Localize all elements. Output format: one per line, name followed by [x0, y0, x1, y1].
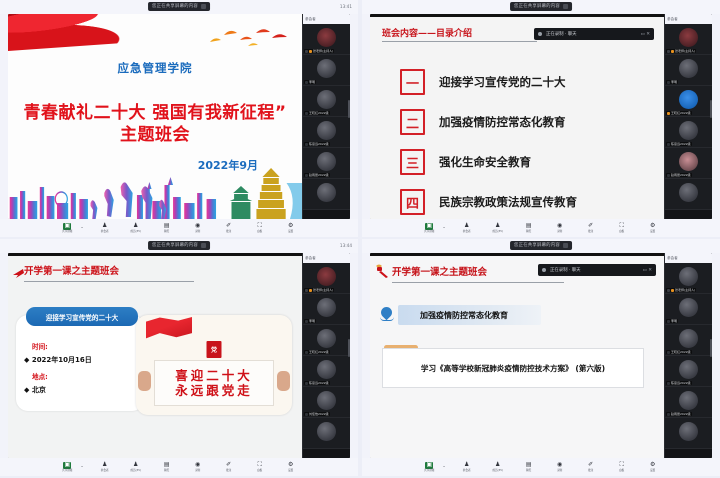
toolbar-members[interactable]: ♟ 成员(35): [488, 462, 508, 473]
share-indicator-label: 您正在共享屏幕的内容: [514, 241, 560, 250]
participant-tile[interactable]: 李明: [303, 294, 350, 325]
toolbar-label: 白板: [619, 469, 624, 473]
gear-icon: ⚙: [649, 462, 657, 469]
avatar: [679, 329, 698, 348]
shared-slide-1[interactable]: 应急管理学院 青春献礼二十大 强国有我新征程” 主题班会 2022年9月: [8, 14, 302, 219]
chevron-up-icon[interactable]: ⌃: [80, 465, 83, 470]
toolbar-participants[interactable]: ♟ 参会者: [95, 462, 115, 473]
participant-name: 陈思远2022级: [309, 142, 329, 146]
chevron-up-icon[interactable]: ⌃: [442, 465, 445, 470]
toolbar-record[interactable]: ◉ 录制: [550, 223, 570, 234]
toolbar-whiteboard[interactable]: ⛶ 白板: [612, 462, 632, 473]
participant-name-bar: 刘佳怡2022级: [304, 412, 330, 416]
chat-icon: ▤: [163, 462, 171, 469]
toolbar-label: 白板: [619, 230, 624, 234]
participant-name: 张老师(主持人): [675, 288, 695, 292]
mic-icon: [667, 320, 670, 323]
participant-name-bar: 李明: [666, 319, 678, 323]
chevron-up-icon[interactable]: ⌃: [80, 226, 83, 231]
share-indicator-label: 您正在共享屏幕的内容: [152, 241, 198, 250]
pin-tail-decor: [380, 317, 394, 321]
members-icon: ♟: [132, 223, 140, 230]
whiteboard-icon: ⛶: [618, 462, 626, 469]
mic-icon: [667, 143, 670, 146]
mic-icon: [305, 351, 308, 354]
participant-tile[interactable]: 李明: [665, 294, 712, 325]
avatar: [317, 267, 336, 286]
participant-name: 李明: [671, 319, 677, 323]
hand-right-decor: [277, 371, 290, 391]
meeting-panel-4: 您正在共享屏幕的内容 开学第一课之主题班会 加强疫情防控常态化教育: [362, 239, 720, 476]
shared-slide-2[interactable]: 班会内容——目录介绍 一 迎接学习宣传党的二十大 二 加强疫情防控常态化教育 三: [370, 14, 664, 219]
participant-tile[interactable]: 刘佳怡2022级: [303, 387, 350, 418]
mic-icon: [667, 81, 670, 84]
meeting-toolbar-4[interactable]: ▣ 共享屏幕 ⌃ ♟ 参会者 ♟ 成员(35) ▤ 聊天 ◉ 录制 ✐: [362, 458, 720, 476]
toolbar-participants[interactable]: ♟ 参会者: [95, 223, 115, 234]
toolbar-label: 批注: [588, 469, 593, 473]
window-controls-icon[interactable]: ▭ ✕: [641, 32, 650, 37]
toolbar-label: 共享屏幕: [424, 230, 434, 234]
annotate-icon: ✐: [225, 462, 233, 469]
participant-name-bar: 陈思远2022级: [666, 381, 692, 385]
mic-icon: [305, 382, 308, 385]
recording-status-label: 正在录制 · 聊天: [546, 31, 577, 37]
toolbar-label: 聊天: [526, 230, 531, 234]
avatar: [679, 267, 698, 286]
participant-name: 赵雨辰2022级: [309, 173, 329, 177]
camera-icon: [667, 50, 670, 53]
agenda-item: 一 迎接学习宣传党的二十大: [400, 62, 652, 102]
mic-icon: [309, 289, 312, 292]
poster-line-1: 喜迎二十大: [175, 369, 253, 382]
slide3-pill: 迎接学习宣传党的二十大: [26, 307, 138, 326]
avatar: [317, 28, 336, 47]
toolbar-share-screen[interactable]: ▣ 共享屏幕: [57, 223, 77, 234]
roster-header-label: 参会者: [305, 256, 316, 261]
slide3-info-card: 迎接学习宣传党的二十大 时间: ◆ 2022年10月16日 地点: ◆ 北京: [16, 315, 144, 411]
avatar: [317, 152, 336, 171]
toolbar-label: 白板: [257, 469, 262, 473]
shared-slide-4[interactable]: 开学第一课之主题班会 加强疫情防控常态化教育 学习《高等学校新冠肺炎疫情防控技术…: [370, 253, 664, 458]
toolbar-label: 批注: [226, 469, 231, 473]
roster-scrollbar[interactable]: [710, 100, 712, 118]
participant-roster-1[interactable]: 参会者 张老师(主持人) 李明: [302, 14, 350, 219]
participant-tile[interactable]: 王晓红2022级: [303, 325, 350, 356]
members-icon: ♟: [494, 462, 502, 469]
toolbar-label: 参会者: [101, 230, 109, 234]
gear-icon: ⚙: [287, 462, 295, 469]
toolbar-label: 批注: [226, 230, 231, 234]
record-icon: ◉: [194, 462, 202, 469]
share-screen-icon: ▣: [425, 462, 433, 469]
toolbar-label: 共享屏幕: [62, 469, 72, 473]
toolbar-label: 录制: [557, 469, 562, 473]
slide-cover: 应急管理学院 青春献礼二十大 强国有我新征程” 主题班会 2022年9月: [8, 14, 302, 219]
whiteboard-icon: ⛶: [256, 223, 264, 230]
participant-tile[interactable]: 王晓红2022级: [303, 86, 350, 117]
meeting-toolbar-2[interactable]: ▣ 共享屏幕 ⌃ ♟ 参会者 ♟ 成员(35) ▤ 聊天 ◉ 录制 ✐: [362, 219, 720, 237]
slide4-body-text: 学习《高等学校新冠肺炎疫情防控技术方案》 (第六版): [382, 348, 644, 388]
participant-tile[interactable]: [665, 179, 712, 210]
mic-icon: [667, 351, 670, 354]
avatar: [679, 422, 698, 441]
avatar: [317, 121, 336, 140]
participant-name: 王晓红2022级: [309, 350, 329, 354]
participant-tile[interactable]: [303, 179, 350, 210]
participant-name: 李明: [671, 80, 677, 84]
chat-icon: ▤: [525, 223, 533, 230]
participant-tile[interactable]: 赵雨辰2022级: [303, 148, 350, 179]
toolbar-label: 聊天: [526, 469, 531, 473]
toolbar-share-screen[interactable]: ▣ 共享屏幕: [57, 462, 77, 473]
avatar: [317, 298, 336, 317]
participant-tile[interactable]: 陈思远2022级: [303, 117, 350, 148]
stop-share-icon[interactable]: [563, 4, 568, 9]
whiteboard-icon: ⛶: [618, 223, 626, 230]
share-indicator-2[interactable]: 您正在共享屏幕的内容: [510, 2, 572, 11]
share-screen-icon: ▣: [63, 462, 71, 469]
annotate-icon: ✐: [225, 223, 233, 230]
participant-tile[interactable]: 王晓红2022级: [665, 86, 712, 117]
panel-grid: 您正在共享屏幕的内容 13:41 应急管理学院: [0, 0, 720, 478]
red-arrow-icon: [13, 269, 24, 278]
camera-icon: [305, 289, 308, 292]
mic-icon: [305, 174, 308, 177]
participant-tile[interactable]: 张老师(主持人): [665, 263, 712, 294]
chat-icon: ▤: [525, 462, 533, 469]
participant-tile[interactable]: 赵雨辰2022级: [665, 148, 712, 179]
mic-icon: [667, 174, 670, 177]
toolbar-label: 成员(35): [130, 469, 141, 473]
toolbar-annotate[interactable]: ✐ 批注: [581, 462, 601, 473]
mic-icon: [671, 289, 674, 292]
mic-icon: [671, 50, 674, 53]
mic-icon: [309, 50, 312, 53]
participant-name-bar: 张老师(主持人): [666, 49, 696, 53]
slide3-time-value: ◆ 2022年10月16日: [24, 355, 92, 365]
toolbar-members[interactable]: ♟ 成员(35): [126, 223, 146, 234]
toolbar-share-screen[interactable]: ▣ 共享屏幕: [419, 223, 439, 234]
record-icon: ◉: [194, 223, 202, 230]
participant-name: 李明: [309, 319, 315, 323]
toolbar-settings[interactable]: ⚙ 设置: [643, 462, 663, 473]
slide4-subtitle: 加强疫情防控常态化教育: [398, 305, 541, 325]
camera-icon: [667, 289, 670, 292]
share-indicator-4[interactable]: 您正在共享屏幕的内容: [510, 241, 572, 250]
participant-name-bar: 王晓红2022级: [304, 111, 330, 115]
slide2-heading: 班会内容——目录介绍: [382, 26, 472, 39]
roster-header-1: 参会者: [303, 14, 350, 24]
meeting-panel-3: 您正在共享屏幕的内容 13:44 开学第一课之主题班会 迎接学习宣传党的二十大 …: [0, 239, 358, 476]
toolbar-label: 批注: [588, 230, 593, 234]
toolbar-members[interactable]: ♟ 成员(35): [488, 223, 508, 234]
participant-tile[interactable]: 陈思远2022级: [665, 117, 712, 148]
toolbar-annotate[interactable]: ✐ 批注: [219, 223, 239, 234]
participant-tile[interactable]: [665, 418, 712, 449]
participant-name: 王晓红2022级: [309, 111, 329, 115]
toolbar-label: 聊天: [164, 230, 169, 234]
toolbar-label: 白板: [257, 230, 262, 234]
participant-tile[interactable]: 王晓红2022级: [665, 325, 712, 356]
share-indicator-label: 您正在共享屏幕的内容: [514, 2, 560, 11]
slide2-rule: [382, 41, 537, 42]
slide-epidemic: 开学第一课之主题班会 加强疫情防控常态化教育 学习《高等学校新冠肺炎疫情防控技术…: [370, 253, 664, 458]
members-icon: ♟: [132, 462, 140, 469]
window-controls-icon[interactable]: ▭ ✕: [643, 268, 652, 273]
participant-tile[interactable]: 陈思远2022级: [665, 356, 712, 387]
toolbar-record[interactable]: ◉ 录制: [188, 462, 208, 473]
avatar: [317, 329, 336, 348]
skyline-decor: [8, 163, 302, 219]
toolbar-label: 成员(35): [492, 469, 503, 473]
participant-name-bar: 赵雨辰2022级: [666, 173, 692, 177]
participant-tile[interactable]: 李明: [303, 55, 350, 86]
participant-name-bar: 李明: [304, 80, 316, 84]
shared-slide-3[interactable]: 开学第一课之主题班会 迎接学习宣传党的二十大 时间: ◆ 2022年10月16日…: [8, 253, 302, 458]
agenda-number: 四: [400, 189, 425, 215]
participant-name: 刘佳怡2022级: [309, 412, 329, 416]
whiteboard-icon: ⛶: [256, 462, 264, 469]
toolbar-participants[interactable]: ♟ 参会者: [457, 223, 477, 234]
participant-name-bar: 王晓红2022级: [666, 111, 692, 115]
birds-decor-icon: [202, 26, 292, 52]
toolbar-settings[interactable]: ⚙ 设置: [281, 223, 301, 234]
mic-icon: [667, 112, 670, 115]
toolbar-label: 录制: [195, 230, 200, 234]
roster-header-3: 参会者: [303, 253, 350, 263]
toolbar-label: 共享屏幕: [424, 469, 434, 473]
roster-scrollbar[interactable]: [348, 339, 350, 357]
mic-icon: [305, 413, 308, 416]
participant-name-bar: 王晓红2022级: [666, 350, 692, 354]
clock-1: 13:41: [340, 2, 352, 11]
slide-topbar: [370, 253, 664, 256]
slide-topbar: [8, 253, 302, 256]
participants-icon: ♟: [463, 223, 471, 230]
avatar: [317, 90, 336, 109]
participant-name-bar: 张老师(主持人): [304, 49, 334, 53]
slide1-school: 应急管理学院: [8, 60, 302, 76]
avatar: [679, 28, 698, 47]
participant-name: 赵雨辰2022级: [671, 173, 691, 177]
hand-left-decor: [138, 371, 151, 391]
mic-icon: [305, 112, 308, 115]
slide4-rule: [392, 282, 564, 283]
toolbar-label: 成员(35): [492, 230, 503, 234]
participant-tile[interactable]: 陈思远2022级: [303, 356, 350, 387]
toolbar-label: 录制: [557, 230, 562, 234]
record-icon: ◉: [556, 462, 564, 469]
participant-name: 陈思远2022级: [671, 142, 691, 146]
poster-line-2: 永远跟党走: [175, 384, 253, 397]
participant-name: 王晓红2022级: [671, 350, 691, 354]
agenda-item: 三 强化生命安全教育: [400, 142, 652, 182]
share-indicator-1[interactable]: 您正在共享屏幕的内容: [148, 2, 210, 11]
stage-4: 开学第一课之主题班会 加强疫情防控常态化教育 学习《高等学校新冠肺炎疫情防控技术…: [370, 253, 712, 458]
avatar: [317, 422, 336, 441]
camera-icon: [305, 50, 308, 53]
share-screen-icon: ▣: [63, 223, 71, 230]
toolbar-chat[interactable]: ▤ 聊天: [157, 462, 177, 473]
stop-share-icon[interactable]: [201, 243, 206, 248]
avatar: [679, 90, 698, 109]
meeting-panel-1: 您正在共享屏幕的内容 13:41 应急管理学院: [0, 0, 358, 237]
slide4-heading: 开学第一课之主题班会: [392, 264, 487, 278]
participant-tile[interactable]: 李明: [665, 55, 712, 86]
participant-name-bar: 陈思远2022级: [666, 142, 692, 146]
share-indicator-3[interactable]: 您正在共享屏幕的内容: [148, 241, 210, 250]
toolbar-label: 聊天: [164, 469, 169, 473]
participants-icon: ♟: [463, 462, 471, 469]
agenda-item: 四 民族宗教政策法规宣传教育: [400, 182, 652, 219]
share-indicator-label: 您正在共享屏幕的内容: [152, 2, 198, 11]
avatar: [317, 59, 336, 78]
annotate-icon: ✐: [587, 462, 595, 469]
avatar: [679, 298, 698, 317]
participant-name: 陈思远2022级: [671, 381, 691, 385]
participants-icon: ♟: [101, 223, 109, 230]
meeting-toolbar-3[interactable]: ▣ 共享屏幕 ⌃ ♟ 参会者 ♟ 成员(35) ▤ 聊天 ◉ 录制 ✐: [0, 458, 358, 476]
agenda-text: 迎接学习宣传党的二十大: [439, 74, 566, 90]
annotate-icon: ✐: [587, 223, 595, 230]
toolbar-whiteboard[interactable]: ⛶ 白板: [612, 223, 632, 234]
agenda-text: 民族宗教政策法规宣传教育: [439, 194, 577, 210]
toolbar-annotate[interactable]: ✐ 批注: [219, 462, 239, 473]
slide3-heading: 开学第一课之主题班会: [24, 263, 119, 277]
participant-roster-2[interactable]: 参会者 张老师(主持人) 李明: [664, 14, 712, 219]
mic-icon: [305, 320, 308, 323]
participant-name-bar: 李明: [304, 319, 316, 323]
recording-status-label: 正在录制 · 聊天: [550, 267, 581, 273]
avatar: [317, 360, 336, 379]
participant-name-bar: 赵雨辰2022级: [304, 173, 330, 177]
stage-1: 应急管理学院 青春献礼二十大 强国有我新征程” 主题班会 2022年9月: [8, 14, 350, 219]
toolbar-settings[interactable]: ⚙ 设置: [281, 462, 301, 473]
participant-name-bar: 李明: [666, 80, 678, 84]
avatar: [679, 59, 698, 78]
avatar: [317, 391, 336, 410]
slide3-poster-card: 党 喜迎二十大 永远跟党走: [136, 315, 292, 415]
participant-name-bar: 张老师(主持人): [666, 288, 696, 292]
meeting-panel-2: 您正在共享屏幕的内容 班会内容——目录介绍 一 迎接学习宣传党的二十大 二: [362, 0, 720, 237]
clock-3: 13:44: [340, 241, 352, 250]
stop-share-icon[interactable]: [201, 4, 206, 9]
meeting-toolbar-1[interactable]: ▣ 共享屏幕 ⌃ ♟ 参会者 ♟ 成员(35) ▤ 聊天 ◉ 录制 ✐: [0, 219, 358, 237]
participant-name-bar: 张老师(主持人): [304, 288, 334, 292]
toolbar-chat[interactable]: ▤ 聊天: [519, 462, 539, 473]
participant-roster-3[interactable]: 参会者 张老师(主持人) 李明: [302, 253, 350, 458]
participant-tile[interactable]: 赵雨辰2022级: [665, 387, 712, 418]
slide3-place-value: ◆ 北京: [24, 385, 46, 395]
participant-tile[interactable]: [303, 418, 350, 449]
toolbar-label: 设置: [650, 469, 655, 473]
slide-agenda: 班会内容——目录介绍 一 迎接学习宣传党的二十大 二 加强疫情防控常态化教育 三: [370, 14, 664, 219]
record-dot-icon: [542, 268, 546, 272]
recording-status-bar[interactable]: 正在录制 · 聊天 ▭ ✕: [538, 264, 656, 276]
roster-header-label: 参会者: [305, 17, 316, 22]
participant-tile[interactable]: 张老师(主持人): [303, 24, 350, 55]
toolbar-chat[interactable]: ▤ 聊天: [157, 223, 177, 234]
agenda-number: 三: [400, 149, 425, 175]
avatar: [679, 391, 698, 410]
toolbar-label: 参会者: [463, 469, 471, 473]
agenda-text: 强化生命安全教育: [439, 154, 531, 170]
participant-tile[interactable]: 张老师(主持人): [665, 24, 712, 55]
toolbar-participants[interactable]: ♟ 参会者: [457, 462, 477, 473]
participant-name-bar: 陈思远2022级: [304, 142, 330, 146]
china-flag-icon: [146, 317, 192, 343]
roster-scrollbar[interactable]: [348, 100, 350, 118]
toolbar-whiteboard[interactable]: ⛶ 白板: [250, 223, 270, 234]
party-seal: 党: [207, 341, 222, 358]
toolbar-label: 成员(35): [130, 230, 141, 234]
toolbar-whiteboard[interactable]: ⛶ 白板: [250, 462, 270, 473]
avatar: [679, 121, 698, 140]
roster-header-label: 参会者: [667, 256, 678, 261]
toolbar-label: 录制: [195, 469, 200, 473]
toolbar-record[interactable]: ◉ 录制: [550, 462, 570, 473]
avatar: [679, 360, 698, 379]
chat-icon: ▤: [163, 223, 171, 230]
chevron-up-icon[interactable]: ⌃: [442, 226, 445, 231]
participant-name: 赵雨辰2022级: [671, 412, 691, 416]
members-icon: ♟: [494, 223, 502, 230]
toolbar-share-screen[interactable]: ▣ 共享屏幕: [419, 462, 439, 473]
avatar: [679, 152, 698, 171]
record-dot-icon: [538, 32, 542, 36]
toolbar-label: 设置: [288, 469, 293, 473]
participants-icon: ♟: [101, 462, 109, 469]
toolbar-settings[interactable]: ⚙ 设置: [643, 223, 663, 234]
participant-name-bar: 陈思远2022级: [304, 381, 330, 385]
slide-topbar: [370, 14, 664, 17]
mic-icon: [667, 382, 670, 385]
slide3-time-label: 时间:: [32, 341, 48, 351]
agenda-item: 二 加强疫情防控常态化教育: [400, 102, 652, 142]
gear-icon: ⚙: [287, 223, 295, 230]
slide3-rule: [24, 281, 194, 282]
torch-icon: [374, 263, 390, 279]
participant-name: 陈思远2022级: [309, 381, 329, 385]
record-icon: ◉: [556, 223, 564, 230]
toolbar-label: 参会者: [463, 230, 471, 234]
avatar: [679, 183, 698, 202]
toolbar-members[interactable]: ♟ 成员(35): [126, 462, 146, 473]
gear-icon: ⚙: [649, 223, 657, 230]
stop-share-icon[interactable]: [563, 243, 568, 248]
mic-icon: [667, 413, 670, 416]
roster-scrollbar[interactable]: [710, 339, 712, 357]
agenda-number: 二: [400, 109, 425, 135]
slide3-poster-banner: 喜迎二十大 永远跟党走: [154, 360, 274, 406]
participant-name: 张老师(主持人): [675, 49, 695, 53]
stage-2: 班会内容——目录介绍 一 迎接学习宣传党的二十大 二 加强疫情防控常态化教育 三: [370, 14, 712, 219]
participant-tile[interactable]: 张老师(主持人): [303, 263, 350, 294]
agenda-number: 一: [400, 69, 425, 95]
roster-header-label: 参会者: [667, 17, 678, 22]
slide1-title-line2: 主题班会: [8, 120, 302, 145]
toolbar-label: 参会者: [101, 469, 109, 473]
toolbar-label: 设置: [650, 230, 655, 234]
toolbar-annotate[interactable]: ✐ 批注: [581, 223, 601, 234]
avatar: [317, 183, 336, 202]
toolbar-label: 设置: [288, 230, 293, 234]
toolbar-record[interactable]: ◉ 录制: [188, 223, 208, 234]
toolbar-chat[interactable]: ▤ 聊天: [519, 223, 539, 234]
recording-status-bar[interactable]: 正在录制 · 聊天 ▭ ✕: [534, 28, 654, 40]
participant-roster-4[interactable]: 参会者 张老师(主持人) 李明: [664, 253, 712, 458]
slide3-place-label: 地点:: [32, 371, 48, 381]
